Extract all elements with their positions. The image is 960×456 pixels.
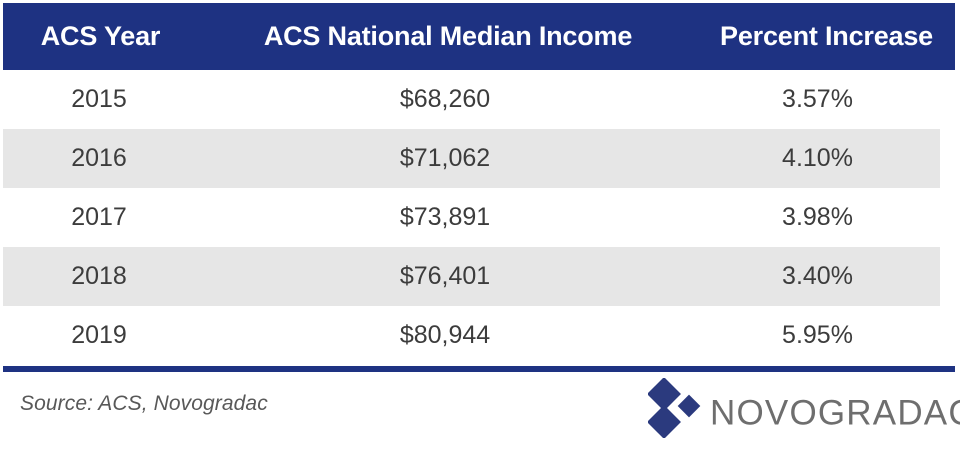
- table-screenshot: ACS Year ACS National Median Income Perc…: [0, 0, 960, 456]
- cell-year: 2018: [3, 247, 195, 306]
- table-row: 2015 $68,260 3.57%: [3, 70, 940, 129]
- table-body: 2015 $68,260 3.57% 2016 $71,062 4.10% 20…: [3, 70, 940, 365]
- table-row: 2019 $80,944 5.95%: [3, 306, 940, 365]
- column-header-acs-year: ACS Year: [3, 3, 198, 70]
- column-header-percent-increase: Percent Increase: [698, 3, 955, 70]
- table-row: 2018 $76,401 3.40%: [3, 247, 940, 306]
- cell-income: $80,944: [195, 306, 695, 365]
- cell-income: $71,062: [195, 129, 695, 188]
- source-note: Source: ACS, Novogradac: [20, 392, 268, 416]
- cell-year: 2015: [3, 70, 195, 129]
- table-row: 2017 $73,891 3.98%: [3, 188, 940, 247]
- cell-percent: 5.95%: [695, 306, 940, 365]
- footer: Source: ACS, Novogradac NOVOGRADAC®: [0, 372, 960, 456]
- table-header-row: ACS Year ACS National Median Income Perc…: [3, 3, 955, 70]
- column-header-national-median-income: ACS National Median Income: [198, 3, 698, 70]
- cell-percent: 3.57%: [695, 70, 940, 129]
- cell-percent: 3.40%: [695, 247, 940, 306]
- cell-income: $76,401: [195, 247, 695, 306]
- cell-year: 2019: [3, 306, 195, 365]
- novogradac-wordmark: NOVOGRADAC®: [710, 386, 960, 430]
- logo-word-text: NOVOGRADAC: [710, 394, 960, 433]
- cell-percent: 4.10%: [695, 129, 940, 188]
- cell-year: 2016: [3, 129, 195, 188]
- cell-percent: 3.98%: [695, 188, 940, 247]
- novogradac-logo: NOVOGRADAC®: [648, 376, 948, 438]
- diamonds-icon: [648, 378, 710, 438]
- cell-income: $73,891: [195, 188, 695, 247]
- cell-year: 2017: [3, 188, 195, 247]
- table-row: 2016 $71,062 4.10%: [3, 129, 940, 188]
- cell-income: $68,260: [195, 70, 695, 129]
